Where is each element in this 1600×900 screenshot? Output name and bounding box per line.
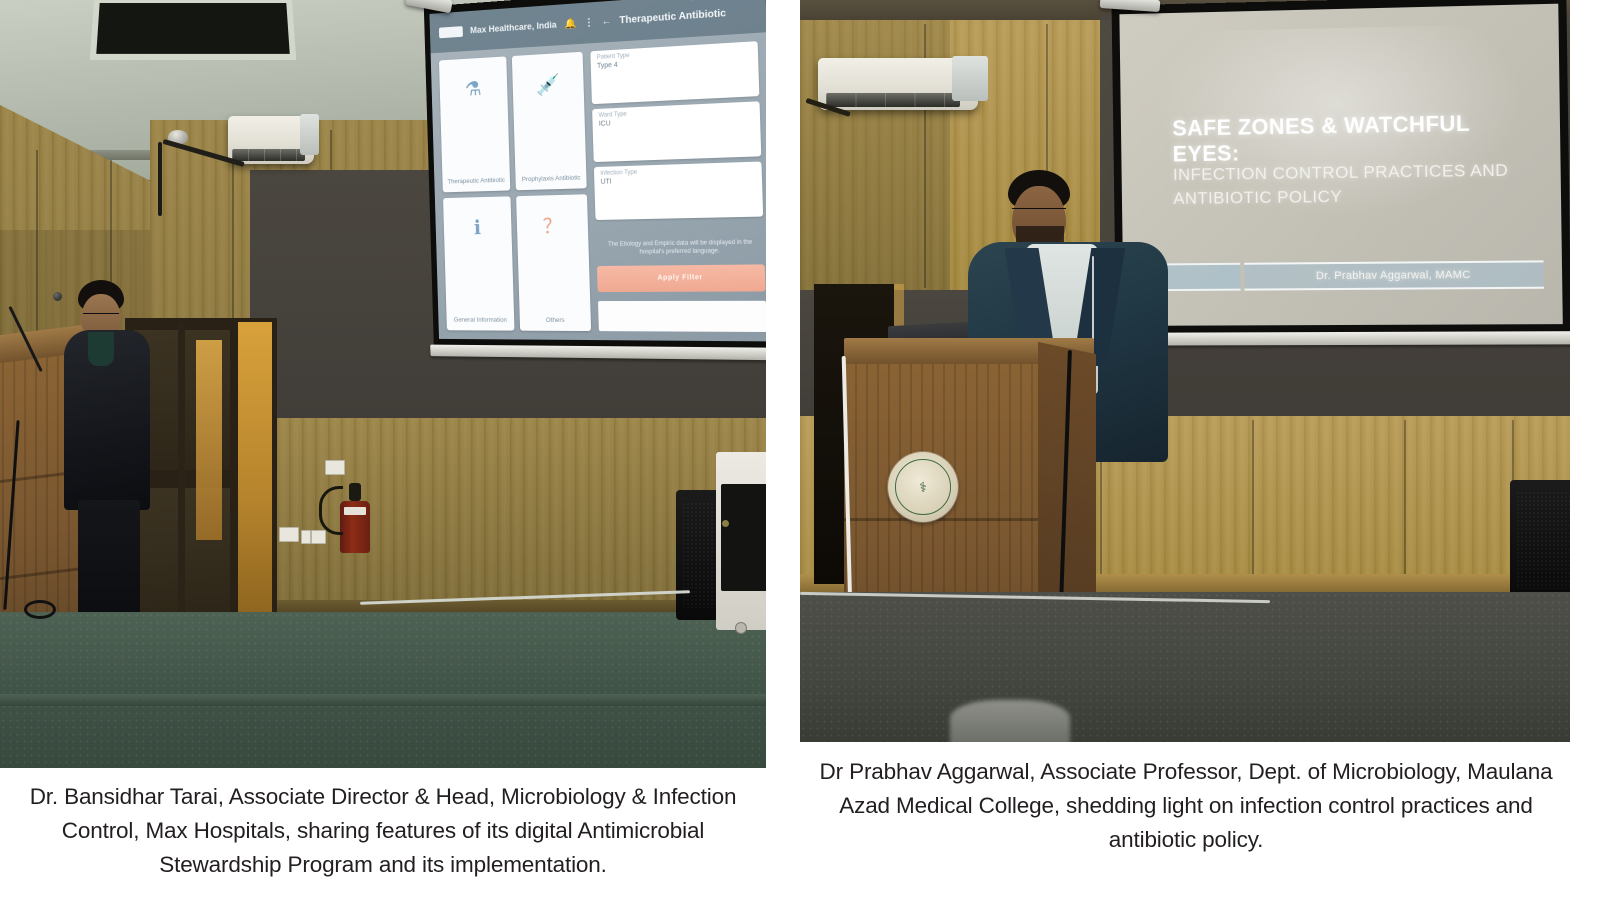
wall-switch-plate[interactable]	[279, 527, 299, 542]
slide-footer-bar: Dr. Prabhav Aggarwal, MAMC	[1157, 260, 1544, 291]
wall-switch-plate[interactable]	[301, 530, 311, 544]
door-corridor-light	[196, 340, 222, 540]
tile-label: Therapeutic Antibiotic	[447, 176, 505, 186]
shirt-collar	[88, 332, 114, 366]
photo-left[interactable]: Max Healthcare, India 🔔 ⋮ ← Therapeutic …	[0, 0, 766, 768]
pills-capsule-icon: ⚗	[439, 78, 508, 101]
pa-speaker	[1510, 480, 1570, 600]
stage-edge	[0, 694, 766, 706]
back-arrow-icon[interactable]: ←	[602, 16, 612, 28]
caduceus-icon: ⚕	[895, 459, 950, 514]
app-filter-form: Patient Type Type 4 Ward Type ICU Infect…	[591, 41, 766, 332]
screen-surface: Max Healthcare, India 🔔 ⋮ ← Therapeutic …	[429, 0, 766, 341]
fire-extinguisher	[340, 483, 370, 553]
tile-label: Others	[546, 317, 565, 326]
door-open-gap-light	[238, 322, 272, 622]
cable-coil	[24, 600, 56, 619]
wall-switch-plate[interactable]	[325, 460, 345, 475]
wall-panel-seam	[1404, 420, 1406, 600]
wall-panel-seam	[1252, 420, 1254, 600]
app-brand-label: Max Healthcare, India	[470, 20, 557, 36]
equipment-cart	[716, 452, 766, 630]
slide-footer-credit: Dr. Prabhav Aggarwal, MAMC	[1244, 260, 1544, 291]
ceiling-air-vent	[90, 0, 297, 60]
cctv-conduit	[158, 142, 162, 216]
speaker-bansidhar-tarai	[60, 280, 170, 660]
foreground-chair-blur	[950, 700, 1070, 742]
split-ac-unit	[228, 116, 314, 164]
field-patient-type[interactable]: Patient Type Type 4	[591, 41, 760, 104]
tile-label: Prophylaxis Antibiotic	[522, 174, 581, 184]
carpet-floor	[800, 592, 1570, 742]
field-ward-type[interactable]: Ward Type ICU	[592, 101, 761, 162]
tile-label: General Information	[454, 316, 507, 325]
info-circle-icon: ℹ	[443, 218, 512, 239]
slide-mobile-app: Max Healthcare, India 🔔 ⋮ ← Therapeutic …	[429, 0, 766, 341]
split-ac-unit	[818, 58, 978, 110]
app-screen-title: Therapeutic Antibiotic	[619, 8, 726, 26]
slide-subtitle-line1: INFECTION CONTROL PRACTICES AND	[1173, 160, 1509, 184]
tile-prophylaxis-antibiotic[interactable]: 💉 Prophylaxis Antibiotic	[512, 52, 587, 191]
glasses	[83, 313, 119, 317]
cart-wheel	[735, 622, 747, 634]
slide-subtitle-line2: ANTIBIOTIC POLICY	[1173, 187, 1342, 208]
tile-general-information[interactable]: ℹ General Information	[443, 197, 515, 331]
wall-switch-plate[interactable]	[311, 530, 326, 544]
podium-emblem: ⚕	[888, 452, 958, 522]
app-bottom-strip	[598, 300, 766, 332]
apply-filter-button[interactable]: Apply Filter	[597, 265, 766, 292]
caption-left: Dr. Bansidhar Tarai, Associate Director …	[8, 780, 758, 883]
app-logo-chip	[439, 26, 463, 38]
slide-subtitle: INFECTION CONTROL PRACTICES AND ANTIBIOT…	[1173, 158, 1525, 212]
app-helper-note: The Etiology and Empiric data will be di…	[596, 238, 764, 257]
tile-others[interactable]: ？ Others	[516, 195, 591, 332]
tile-therapeutic-antibiotic[interactable]: ⚗ Therapeutic Antibiotic	[439, 57, 511, 193]
page-root: Max Healthcare, India 🔔 ⋮ ← Therapeutic …	[0, 0, 1600, 900]
photo-right[interactable]: SAFE ZONES & WATCHFUL EYES: INFECTION CO…	[800, 0, 1570, 742]
field-infection-type[interactable]: Infection Type UTI	[594, 161, 763, 219]
carpet-floor	[0, 612, 766, 768]
door-mullion	[178, 322, 185, 622]
app-tile-grid: ⚗ Therapeutic Antibiotic 💉 Prophylaxis A…	[439, 52, 592, 332]
projector-screen-left: Max Healthcare, India 🔔 ⋮ ← Therapeutic …	[424, 0, 766, 352]
overflow-menu-icon[interactable]: ⋮	[584, 17, 594, 29]
syringe-icon: 💉	[513, 74, 584, 98]
question-circle-icon: ？	[517, 216, 588, 237]
glasses	[1012, 208, 1066, 212]
caption-right: Dr Prabhav Aggarwal, Associate Professor…	[806, 755, 1566, 858]
bell-icon[interactable]: 🔔	[564, 18, 576, 30]
